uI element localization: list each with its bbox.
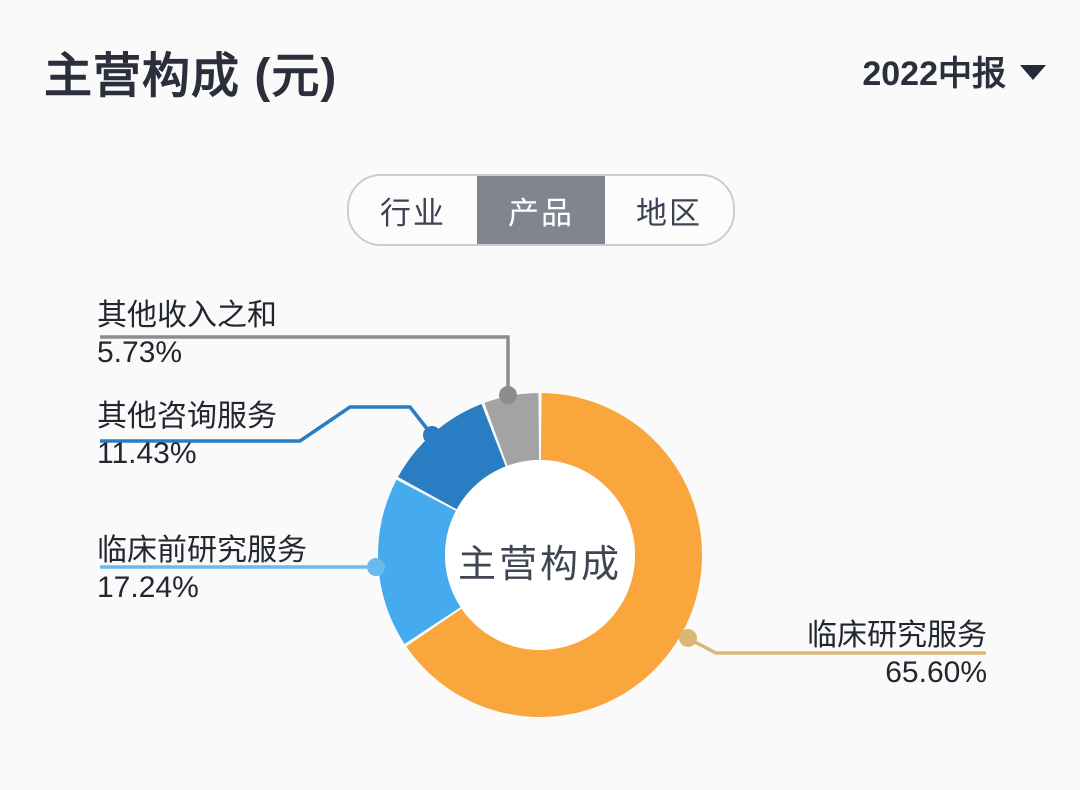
callout-clinical-research-category: 临床研究服务 <box>807 617 987 654</box>
callout-preclinical-research-category: 临床前研究服务 <box>97 532 307 569</box>
dimension-tab-group[interactable]: 行业 产品 地区 <box>347 174 735 246</box>
callout-other-income-value: 5.73% <box>97 334 277 371</box>
tab-industry[interactable]: 行业 <box>349 176 477 244</box>
callout-preclinical-research-value: 17.24% <box>97 569 307 606</box>
callout-other-income-category: 其他收入之和 <box>97 297 277 334</box>
callout-other-consulting: 其他咨询服务 11.43% <box>97 398 277 472</box>
tab-region[interactable]: 地区 <box>605 176 733 244</box>
main-composition-chart: 主营构成 其他收入之和 5.73% 其他咨询服务 11.43% 临床前研究服务 … <box>0 255 1080 790</box>
callout-preclinical-research: 临床前研究服务 17.24% <box>97 532 307 606</box>
callout-other-income: 其他收入之和 5.73% <box>97 297 277 371</box>
page-header: 主营构成 (元) 2022中报 <box>0 0 1080 130</box>
callout-clinical-research-value: 65.60% <box>807 654 987 691</box>
tab-product[interactable]: 产品 <box>477 176 605 244</box>
donut-hole <box>445 460 635 650</box>
period-selector-label: 2022中报 <box>862 46 1006 95</box>
chevron-down-icon <box>1020 65 1046 80</box>
callout-other-consulting-category: 其他咨询服务 <box>97 398 277 435</box>
period-selector[interactable]: 2022中报 <box>862 46 1046 95</box>
page-title: 主营构成 (元) <box>44 36 337 106</box>
callout-clinical-research: 临床研究服务 65.60% <box>807 617 987 691</box>
callout-other-consulting-value: 11.43% <box>97 435 277 472</box>
